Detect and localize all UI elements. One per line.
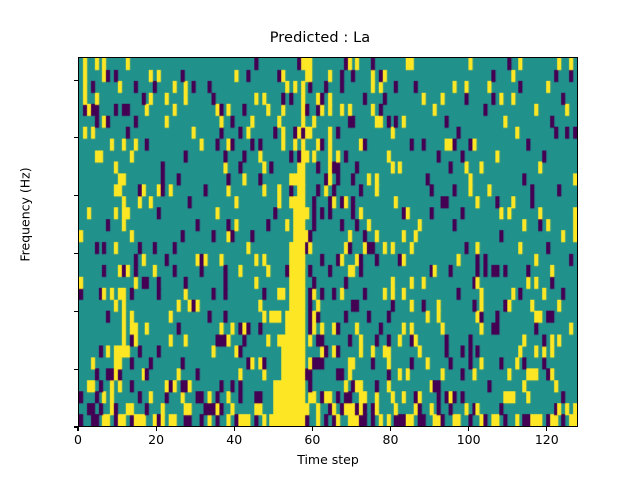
x-tick-label: 60 xyxy=(272,432,352,447)
y-axis-label: Frequency (Hz) xyxy=(18,30,33,400)
x-tick-label: 0 xyxy=(38,432,118,447)
x-tick-label: 20 xyxy=(116,432,196,447)
heatmap-image xyxy=(79,58,577,426)
x-axis-label: Time step xyxy=(78,452,578,467)
x-tick-mark xyxy=(156,427,157,431)
x-tick-label: 80 xyxy=(351,432,431,447)
x-tick-mark xyxy=(234,427,235,431)
x-tick-mark xyxy=(390,427,391,431)
x-tick-label: 120 xyxy=(507,432,587,447)
y-tick-mark xyxy=(74,253,78,254)
x-tick-label: 40 xyxy=(194,432,274,447)
y-tick-mark xyxy=(74,195,78,196)
y-tick-mark xyxy=(74,311,78,312)
y-tick-mark xyxy=(74,80,78,81)
y-tick-mark xyxy=(74,369,78,370)
x-tick-mark xyxy=(77,427,78,431)
chart-title: Predicted : La xyxy=(0,30,640,46)
x-tick-mark xyxy=(468,427,469,431)
x-tick-mark xyxy=(312,427,313,431)
x-tick-mark xyxy=(546,427,547,431)
x-tick-label: 100 xyxy=(429,432,509,447)
heatmap-axes xyxy=(78,57,578,427)
matplotlib-figure: Predicted : La Frequency (Hz) Time step … xyxy=(0,0,640,480)
y-tick-mark xyxy=(74,137,78,138)
